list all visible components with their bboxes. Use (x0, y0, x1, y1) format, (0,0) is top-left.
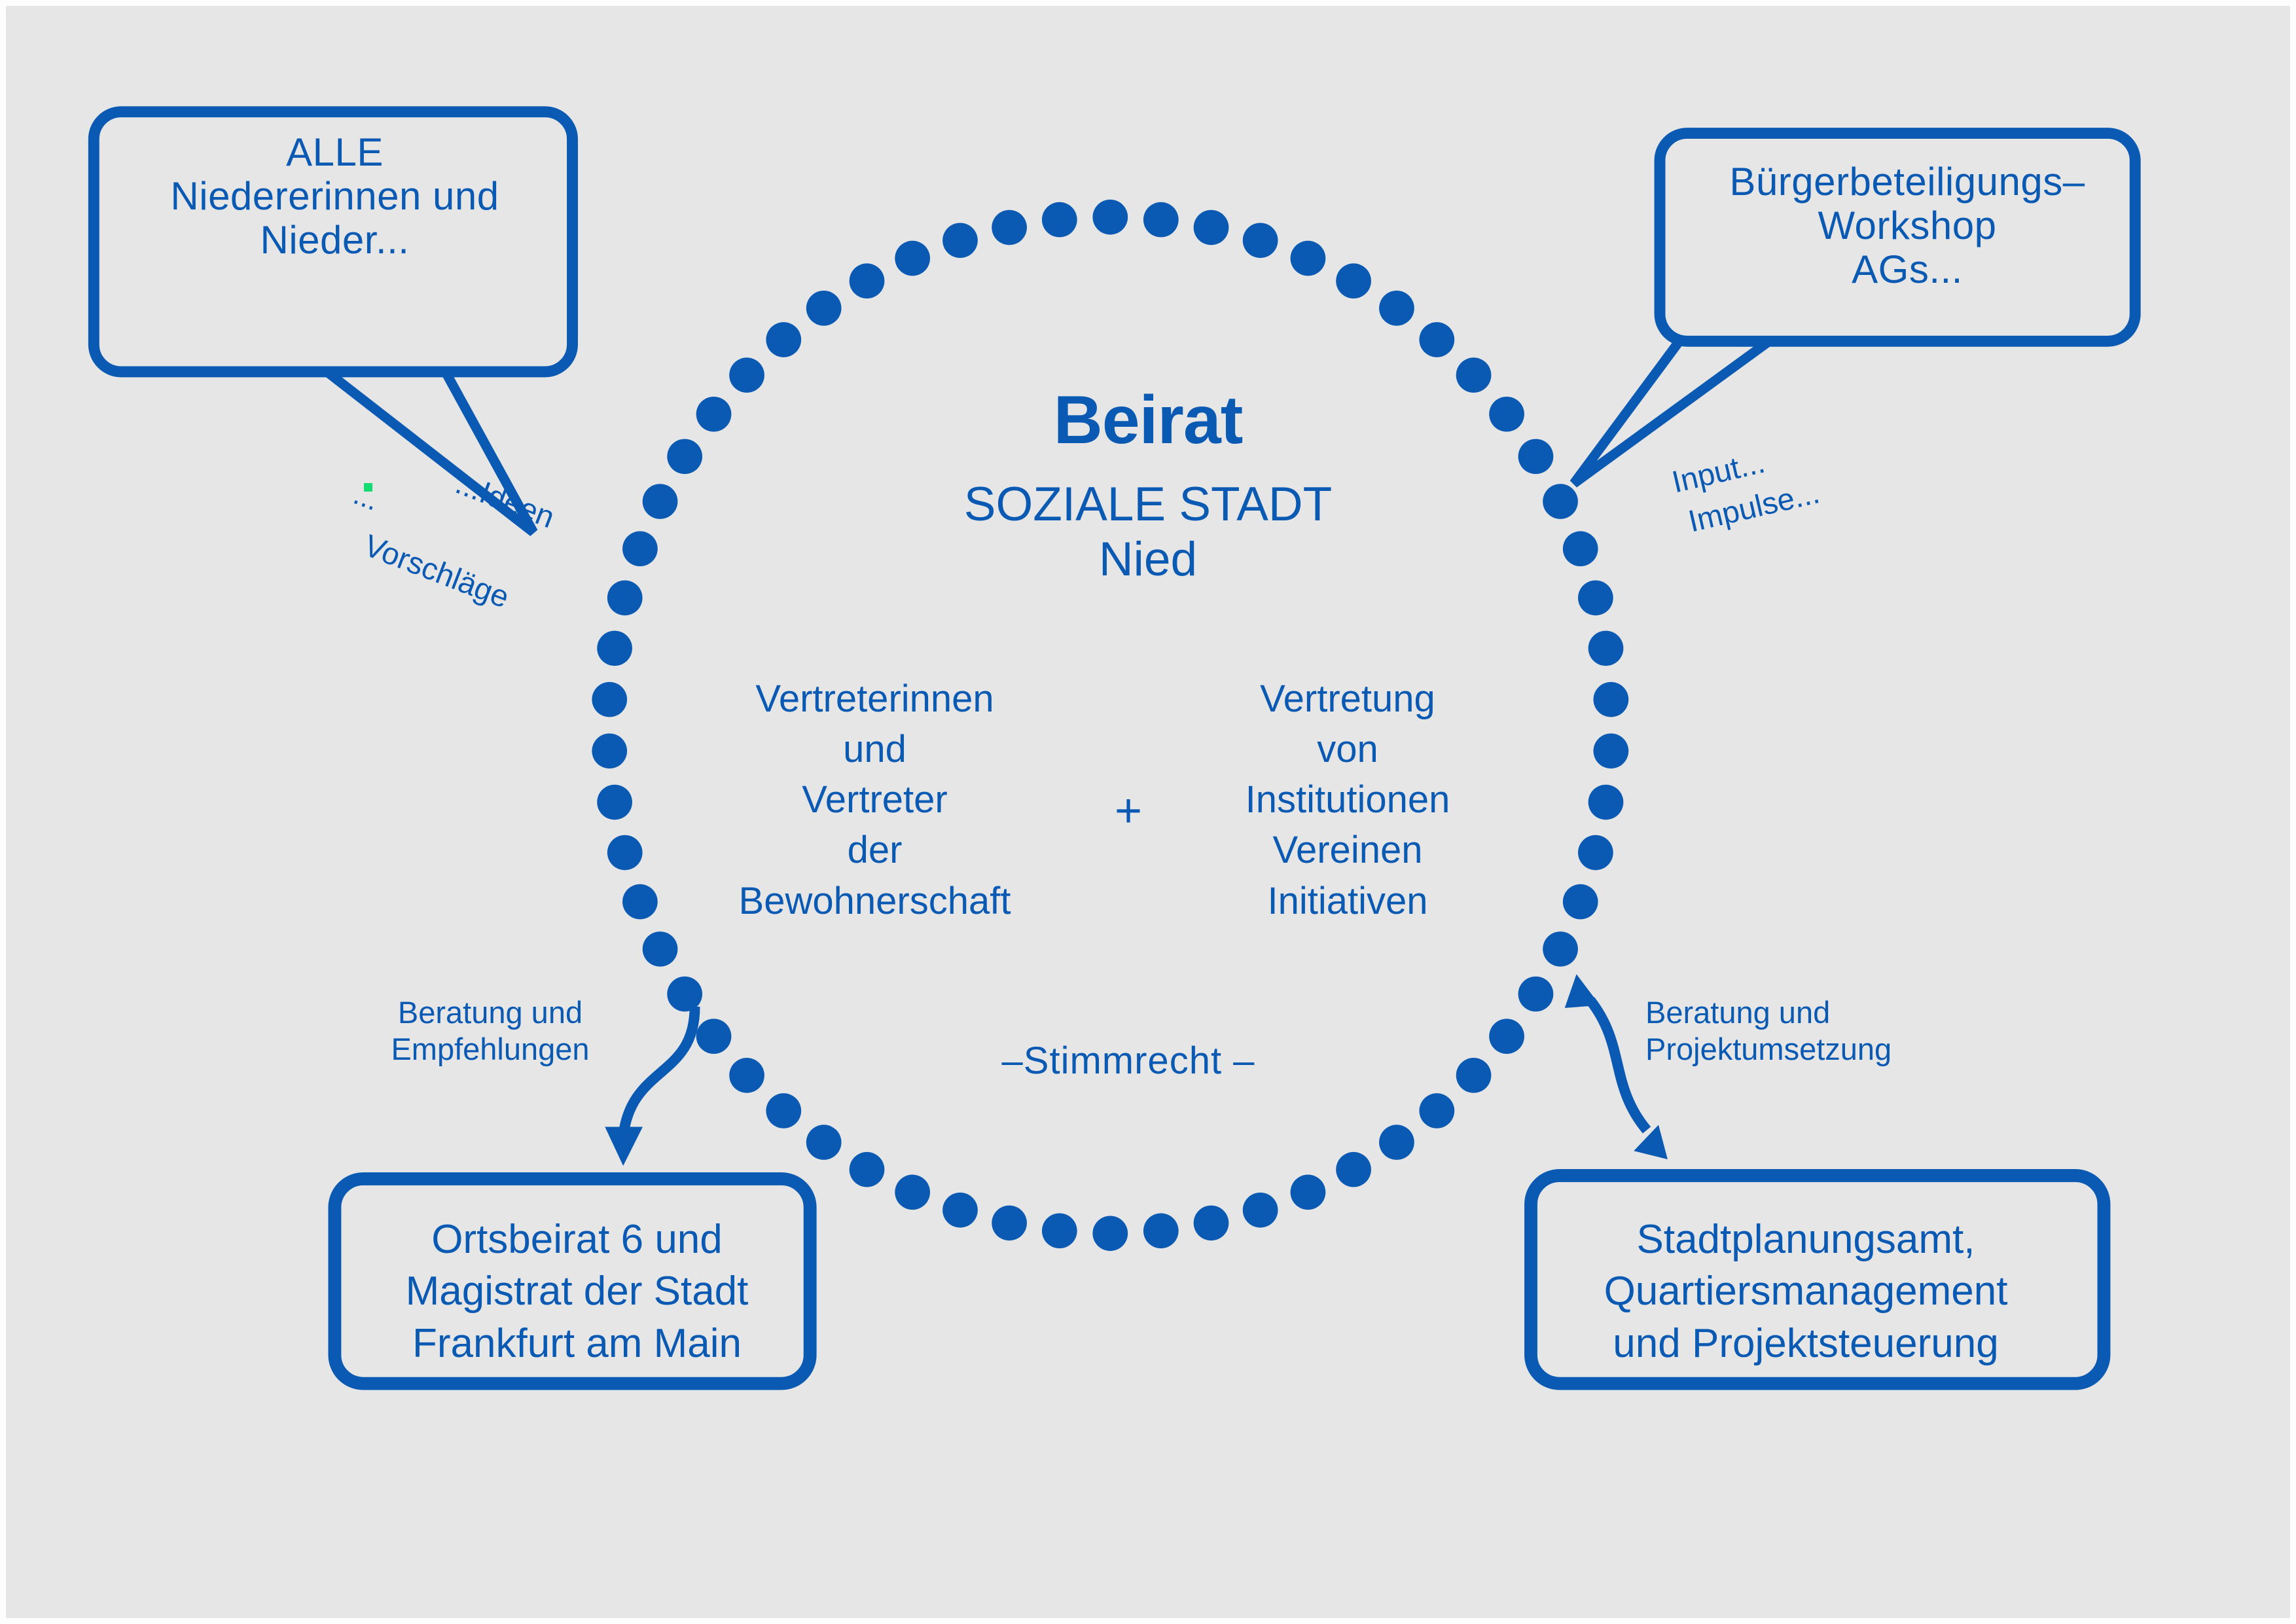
circle-dot (1543, 931, 1578, 967)
circle-dot (1379, 1125, 1414, 1160)
circle-dot (592, 682, 627, 717)
circle-dot (1518, 977, 1554, 1012)
diagram-canvas: ALLE Niedererinnen und Nieder... Bürgerb… (0, 0, 2296, 1624)
circle-dot (1291, 241, 1326, 276)
center-column-right: Vertretung von Institutionen Vereinen In… (1194, 674, 1501, 926)
circle-dot (1291, 1175, 1326, 1210)
center-subheading-line1: SOZIALE STADT (964, 478, 1332, 531)
circle-dot (895, 241, 930, 276)
circle-dot (667, 977, 702, 1012)
circle-dot (1563, 884, 1598, 920)
circle-dot (1194, 210, 1229, 245)
circle-dot (597, 785, 632, 820)
circle-dot (592, 733, 627, 768)
circle-dot (1243, 1193, 1278, 1228)
center-footer-stimmrecht: –Stimmrecht – (925, 1040, 1331, 1083)
label-beratung-empfehlungen: Beratung und Empfehlungen (350, 994, 631, 1068)
circle-dot (1593, 682, 1628, 717)
circle-dot (643, 484, 678, 519)
circle-dot (1543, 484, 1578, 519)
circle-dot (766, 1093, 801, 1128)
speech-bubble-right-label: Bürgerbeteiligungs– Workshop AGs... (1668, 160, 2146, 292)
circle-dot (696, 1019, 732, 1054)
circle-dot (729, 357, 764, 393)
center-column-left: Vertreterinnen und Vertreter der Bewohne… (690, 674, 1060, 926)
box-right-label: Stadtplanungsamt, Quartiersmanagement un… (1518, 1214, 2094, 1369)
circle-dot (1419, 1093, 1454, 1128)
circle-dot (1143, 1214, 1179, 1249)
circle-dot (1563, 532, 1598, 567)
circle-dot (992, 210, 1027, 245)
circle-dot (806, 1125, 842, 1160)
circle-dot (1593, 733, 1628, 768)
circle-dot (667, 439, 702, 475)
circle-dot (1456, 1058, 1492, 1093)
circle-dot (1578, 581, 1613, 616)
circle-dot (1243, 223, 1278, 258)
circle-dot (607, 581, 643, 616)
circle-dot (729, 1058, 764, 1093)
label-ellipsis: ... (349, 477, 435, 538)
circle-dot (942, 223, 978, 258)
green-speck-artifact (364, 483, 372, 492)
circle-dot (806, 291, 842, 326)
circle-dot (1143, 202, 1179, 238)
circle-dot (1042, 1214, 1077, 1249)
circle-dot (643, 931, 678, 967)
circle-dot (942, 1193, 978, 1228)
circle-dot (1419, 322, 1454, 357)
circle-dot (1042, 202, 1077, 238)
box-left-label: Ortsbeirat 6 und Magistrat der Stadt Fra… (346, 1214, 808, 1369)
circle-dot (895, 1175, 930, 1210)
circle-dot (1092, 200, 1128, 235)
center-plus-operator: + (1079, 785, 1177, 838)
circle-dot (622, 884, 658, 920)
circle-dot (1489, 1019, 1524, 1054)
circle-dot (1336, 1152, 1371, 1187)
circle-dot (696, 397, 732, 432)
circle-dot (607, 835, 643, 871)
circle-dot (992, 1206, 1027, 1241)
circle-dot (850, 263, 885, 298)
circle-dot (1588, 631, 1624, 666)
circle-dot (1588, 785, 1624, 820)
circle-dot (1092, 1216, 1128, 1251)
label-ideen: ...Ideen (450, 464, 684, 584)
circle-dot (1379, 291, 1414, 326)
circle-dot (766, 322, 801, 357)
circle-dot (1518, 439, 1554, 475)
circle-dot (1578, 835, 1613, 871)
center-subheading: SOZIALE STADTNied (778, 477, 1518, 587)
label-beratung-projektumsetzung: Beratung und Projektumsetzung (1645, 994, 1973, 1068)
center-heading: Beirat (778, 382, 1518, 458)
speech-bubble-left-label: ALLE Niedererinnen und Nieder... (94, 130, 575, 262)
center-subheading-line2: Nied (1099, 533, 1197, 586)
circle-dot (1194, 1206, 1229, 1241)
circle-dot (850, 1152, 885, 1187)
circle-dot (1336, 263, 1371, 298)
